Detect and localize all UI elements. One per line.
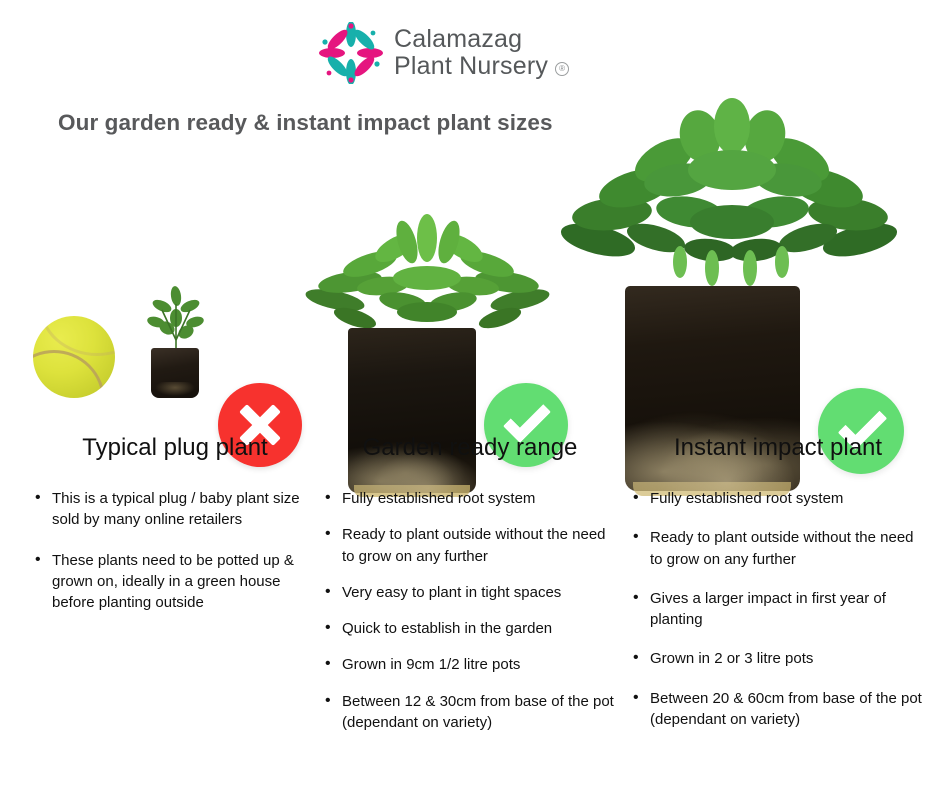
column-garden-ready-range: Garden ready range Fully established roo… xyxy=(320,434,620,748)
list-item: Between 20 & 60cm from base of the pot (… xyxy=(628,688,928,731)
list-item: Very easy to plant in tight spaces xyxy=(320,582,620,603)
plug-plant-image xyxy=(142,280,210,400)
brand-logo: Calamazag Plant Nursery ® xyxy=(318,18,628,88)
column-title-garden-ready-range: Garden ready range xyxy=(320,434,620,462)
column-title-typical-plug-plant: Typical plug plant xyxy=(30,434,320,462)
brand-wordmark: Calamazag Plant Nursery ® xyxy=(394,26,569,80)
column-title-instant-impact-plant: Instant impact plant xyxy=(628,434,928,462)
bullet-list-typical-plug-plant: This is a typical plug / baby plant size… xyxy=(30,488,320,613)
list-item: This is a typical plug / baby plant size… xyxy=(30,488,320,531)
bullet-list-instant-impact-plant: Fully established root system Ready to p… xyxy=(628,488,928,730)
bullet-list-garden-ready-range: Fully established root system Ready to p… xyxy=(320,488,620,733)
list-item: Ready to plant outside without the need … xyxy=(320,524,620,567)
plant-size-comparison-imagery xyxy=(0,80,940,430)
list-item: Grown in 2 or 3 litre pots xyxy=(628,648,928,669)
flower-starburst-icon xyxy=(318,22,384,84)
registered-trademark-icon: ® xyxy=(555,62,569,76)
plug-plant-rootball xyxy=(151,348,199,398)
column-typical-plug-plant: Typical plug plant This is a typical plu… xyxy=(30,434,320,632)
list-item: Ready to plant outside without the need … xyxy=(628,527,928,570)
list-item: Fully established root system xyxy=(320,488,620,509)
brand-name-line2: Plant Nursery xyxy=(394,53,548,80)
list-item: Grown in 9cm 1/2 litre pots xyxy=(320,654,620,675)
list-item: Quick to establish in the garden xyxy=(320,618,620,639)
list-item: Fully established root system xyxy=(628,488,928,509)
brand-name-line1: Calamazag xyxy=(394,26,569,53)
column-instant-impact-plant: Instant impact plant Fully established r… xyxy=(628,434,928,748)
tennis-ball-reference xyxy=(33,316,115,398)
list-item: These plants need to be potted up & grow… xyxy=(30,550,320,614)
list-item: Gives a larger impact in first year of p… xyxy=(628,588,928,631)
list-item: Between 12 & 30cm from base of the pot (… xyxy=(320,691,620,734)
